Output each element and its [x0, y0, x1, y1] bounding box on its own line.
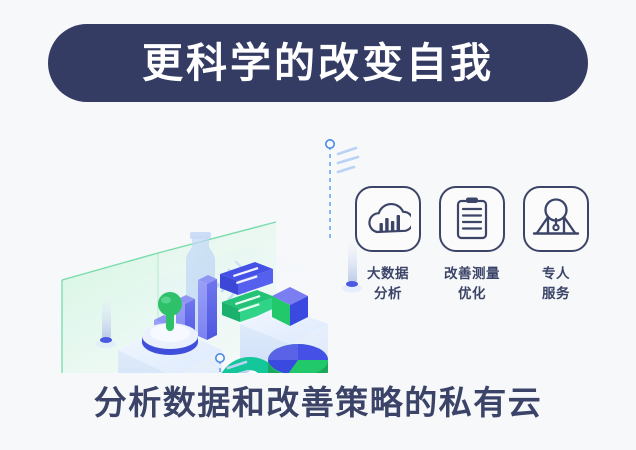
feature-label-line1: 专人	[542, 265, 570, 285]
feature-item-support[interactable]: 专人 服务	[520, 186, 592, 304]
illustration	[40, 128, 370, 373]
support-agent-icon	[523, 186, 589, 252]
feature-label-line1: 大数据	[367, 265, 409, 285]
feature-label-support: 专人 服务	[542, 265, 570, 304]
banner-page: 更科学的改变自我	[0, 0, 636, 450]
feature-label-line2: 分析	[367, 285, 409, 305]
feature-item-measurement[interactable]: 改善测量 优化	[436, 186, 508, 304]
feature-list: 大数据 分析 改善测量 优化	[352, 186, 592, 336]
feature-label-big-data: 大数据 分析	[367, 265, 409, 304]
feature-label-line2: 优化	[444, 285, 500, 305]
feature-label-measurement: 改善测量 优化	[444, 265, 500, 304]
feature-label-line2: 服务	[542, 285, 570, 305]
tagline: 分析数据和改善策略的私有云	[0, 386, 636, 419]
cloud-bar-chart-icon	[355, 186, 421, 252]
isometric-scene-svg	[40, 128, 370, 373]
clipboard-icon	[439, 186, 505, 252]
title-banner: 更科学的改变自我	[48, 24, 588, 102]
feature-item-big-data[interactable]: 大数据 分析	[352, 186, 424, 304]
feature-label-line1: 改善测量	[444, 265, 500, 285]
page-title: 更科学的改变自我	[142, 43, 494, 84]
